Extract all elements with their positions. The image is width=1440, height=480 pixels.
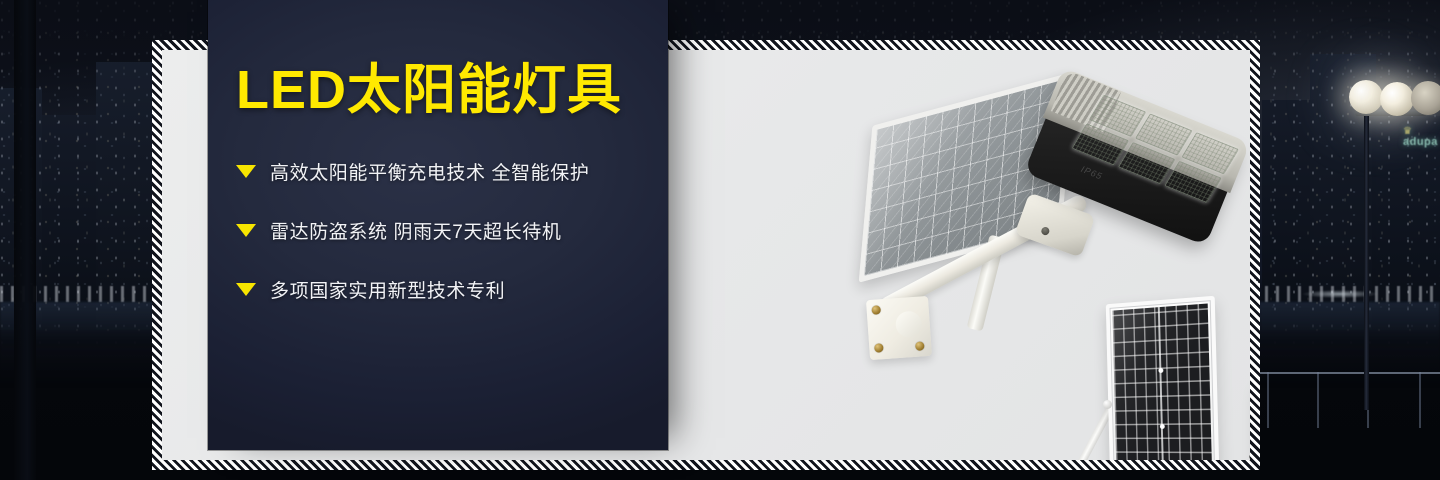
panel-hinge	[1103, 400, 1112, 409]
bracket-bolt	[871, 305, 881, 315]
feature-text: 高效太阳能平衡充电技术 全智能保护	[270, 158, 589, 185]
feature-list: 高效太阳能平衡充电技术 全智能保护 雷达防盗系统 阴雨天7天超长待机 多项国家实…	[236, 158, 646, 303]
lamp-globe	[1411, 81, 1440, 115]
list-item: 多项国家实用新型技术专利	[236, 276, 646, 303]
luminaire-brand-mark: IP65	[1079, 164, 1105, 181]
city-building-sign: ♛ adupa	[1403, 128, 1438, 148]
triangle-down-icon	[236, 283, 256, 296]
foreground-post	[14, 0, 36, 480]
triangle-down-icon	[236, 224, 256, 237]
crown-icon: ♛	[1403, 128, 1438, 136]
lamp-globe	[1349, 80, 1383, 114]
list-item: 高效太阳能平衡充电技术 全智能保护	[236, 158, 646, 185]
headline-panel: LED太阳能灯具 高效太阳能平衡充电技术 全智能保护 雷达防盗系统 阴雨天7天超…	[208, 0, 668, 450]
bracket-bolt	[915, 341, 925, 351]
led-flood-light: Solar light 100W IP67	[1247, 380, 1250, 460]
bracket-bolt	[874, 343, 884, 353]
lamp-globe	[1380, 82, 1414, 116]
feature-text: 雷达防盗系统 阴雨天7天超长待机	[270, 217, 561, 244]
panel-aluminium-frame	[1106, 296, 1220, 460]
triangle-down-icon	[236, 165, 256, 178]
feature-text: 多项国家实用新型技术专利	[270, 276, 505, 303]
flood-light-bracket-lower	[1249, 446, 1250, 460]
page-title: LED太阳能灯具	[236, 62, 622, 119]
promo-banner: ♛ adupa	[0, 0, 1440, 480]
street-light-wall-bracket	[866, 296, 932, 360]
list-item: 雷达防盗系统 阴雨天7天超长待机	[236, 217, 646, 244]
city-sign-text: adupa	[1403, 136, 1438, 148]
monocrystalline-solar-panel	[1087, 300, 1217, 460]
